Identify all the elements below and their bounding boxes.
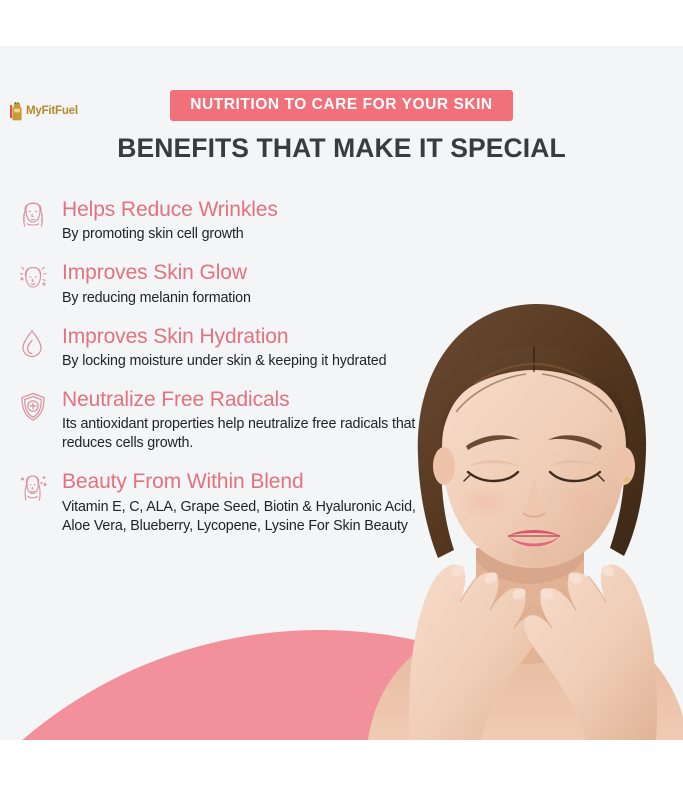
benefit-body: Improves Skin Glow By reducing melanin f… [62,261,438,307]
benefit-item: Improves Skin Glow By reducing melanin f… [18,261,438,307]
benefit-item: Helps Reduce Wrinkles By promoting skin … [18,198,438,244]
benefit-body: Neutralize Free Radicals Its antioxidant… [62,388,438,453]
woman-sparkle-icon [18,470,62,508]
shield-plus-icon [18,388,62,426]
benefit-item: Improves Skin Hydration By locking moist… [18,325,438,371]
benefit-body: Beauty From Within Blend Vitamin E, C, A… [62,470,438,535]
benefit-body: Helps Reduce Wrinkles By promoting skin … [62,198,438,244]
benefits-list: Helps Reduce Wrinkles By promoting skin … [18,198,438,553]
benefit-title: Helps Reduce Wrinkles [62,198,438,222]
benefit-title: Beauty From Within Blend [62,470,438,494]
benefit-title: Neutralize Free Radicals [62,388,438,412]
benefit-description: By reducing melanin formation [62,289,438,308]
benefit-item: Beauty From Within Blend Vitamin E, C, A… [18,470,438,535]
page-title: BENEFITS THAT MAKE IT SPECIAL [0,134,683,163]
benefit-description: Its antioxidant properties help neutrali… [62,415,438,453]
benefit-body: Improves Skin Hydration By locking moist… [62,325,438,371]
benefit-description: Vitamin E, C, ALA, Grape Seed, Biotin & … [62,498,438,536]
infographic-card: MyFitFuel NUTRITION TO CARE FOR YOUR SKI… [0,46,683,740]
water-droplet-icon [18,325,62,363]
infographic-canvas: MyFitFuel NUTRITION TO CARE FOR YOUR SKI… [0,0,683,800]
woman-face-icon [18,198,62,236]
glowing-face-icon [18,261,62,299]
benefit-title: Improves Skin Glow [62,261,438,285]
benefit-description: By promoting skin cell growth [62,225,438,244]
header: NUTRITION TO CARE FOR YOUR SKIN BENEFITS… [0,90,683,163]
benefit-description: By locking moisture under skin & keeping… [62,352,438,371]
benefit-item: Neutralize Free Radicals Its antioxidant… [18,388,438,453]
benefit-title: Improves Skin Hydration [62,325,438,349]
header-badge: NUTRITION TO CARE FOR YOUR SKIN [170,90,512,121]
